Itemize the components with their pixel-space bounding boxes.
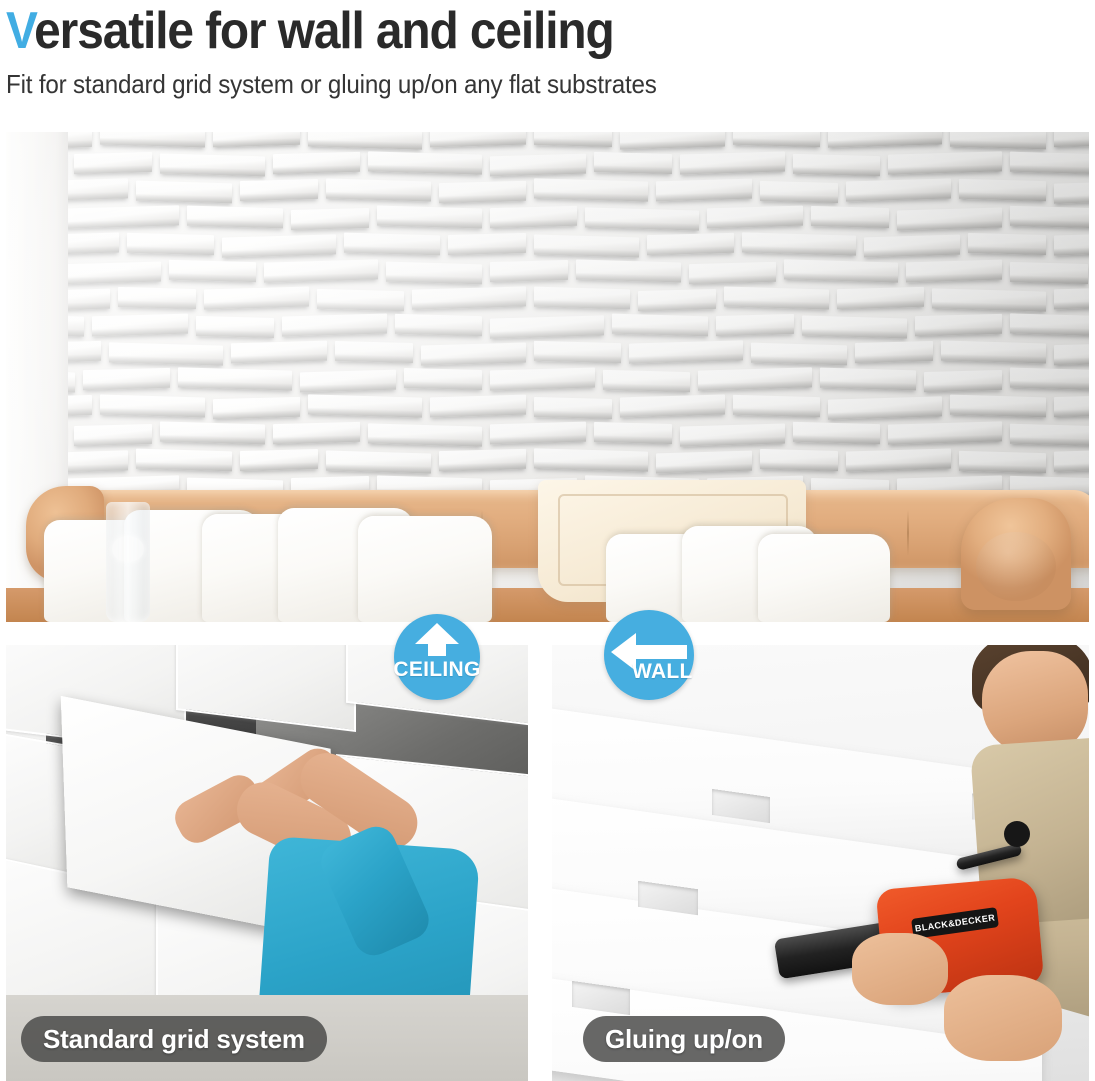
page-title: Versatile for wall and ceiling [6, 0, 1008, 60]
brick-tile [490, 368, 595, 391]
brick-tile [793, 154, 880, 176]
brick-tile [793, 422, 880, 444]
brick-row [68, 288, 1089, 315]
brick-tile [240, 449, 318, 471]
brick-tile [888, 421, 1002, 444]
brick-tile [534, 287, 630, 310]
badge-wall-label: WALL [632, 660, 693, 684]
brick-row [68, 423, 1089, 450]
brick-tile [490, 206, 577, 228]
brick-tile [733, 395, 820, 417]
brick-tile [68, 205, 179, 228]
brick-tile [68, 289, 110, 312]
brick-tile [92, 314, 188, 337]
brick-tile [273, 152, 360, 174]
brick-tile [716, 314, 794, 336]
brick-tile [828, 396, 942, 419]
page-header: Versatile for wall and ceiling Fit for s… [0, 0, 1095, 100]
brick-tile [620, 395, 725, 418]
brick-tile [136, 449, 232, 472]
brick-tile [888, 151, 1002, 174]
brick-tile [612, 314, 708, 337]
brick-tile [802, 316, 907, 339]
brick-tile [629, 340, 743, 363]
brick-tile [264, 259, 378, 282]
brick-tile [811, 206, 889, 228]
brick-tile [915, 314, 1002, 336]
installer-hand-front [852, 933, 948, 1005]
brick-tile [707, 206, 803, 229]
brick-tile [594, 422, 672, 444]
installer-hand-grip [944, 975, 1062, 1061]
brick-tile [291, 208, 369, 230]
brick-tile [932, 288, 1046, 311]
brick-tile [680, 152, 785, 175]
brick-tile [760, 449, 838, 471]
brick-tile [846, 449, 951, 472]
brick-tile [959, 451, 1046, 473]
brick-tile [603, 370, 690, 392]
brick-tile [231, 341, 327, 364]
brick-tile [594, 152, 672, 174]
sofa [6, 472, 1089, 622]
brick-tile [196, 316, 274, 338]
brick-tile [585, 207, 699, 230]
brick-tile [680, 424, 785, 447]
brick-tile [689, 262, 776, 284]
brick-tile [656, 179, 752, 202]
badge-ceiling: CEILING [394, 614, 480, 700]
brick-tile [534, 235, 639, 258]
brick-tile [68, 395, 92, 417]
arrow-up-icon [414, 622, 460, 656]
brick-tile [864, 235, 960, 258]
brick-tile [335, 341, 413, 363]
brick-tile [1010, 262, 1088, 284]
brick-tile [68, 233, 119, 256]
brick-tile [439, 181, 526, 203]
brick-tile [760, 181, 838, 203]
brick-tile [698, 367, 812, 390]
brick-tile [68, 341, 101, 363]
brick-tile [941, 341, 1046, 364]
brick-tile [751, 343, 847, 366]
brick-tile [924, 370, 1002, 392]
brick-tile [439, 449, 526, 471]
brick-tile [906, 260, 1002, 283]
brick-tile [647, 233, 734, 255]
brick-tile [1054, 180, 1089, 203]
brick-tile [109, 342, 223, 365]
brick-tile [300, 370, 396, 393]
caption-gluing: Gluing up/on [583, 1016, 785, 1062]
badge-wall: WALL [604, 610, 694, 700]
brick-tile [784, 259, 898, 282]
brick-tile [968, 233, 1046, 255]
brick-tile [136, 181, 232, 204]
brick-row [68, 234, 1089, 261]
brick-tile [83, 368, 170, 390]
sofa-arm-right [961, 498, 1071, 610]
brick-tile [1054, 287, 1089, 310]
brick-tile [430, 132, 526, 147]
brick-row [68, 342, 1089, 369]
brick-tile [1010, 206, 1089, 228]
brick-tile [317, 289, 404, 311]
brick-tile [412, 286, 526, 309]
brick-tile [100, 395, 205, 418]
brick-tile [430, 395, 526, 418]
brick-tile [656, 451, 752, 474]
brick-tile [68, 313, 84, 336]
brick-tile [950, 132, 1046, 149]
brick-tile [576, 260, 681, 283]
brick-tile [395, 314, 482, 336]
caption-standard-grid: Standard grid system [21, 1016, 327, 1062]
brick-tile [534, 178, 648, 201]
brick-tile [273, 422, 360, 444]
brick-tile [326, 451, 431, 474]
brick-tile [828, 132, 942, 148]
room-scene [6, 132, 1089, 622]
brick-tile [448, 233, 526, 255]
brick-tile [222, 234, 336, 257]
pillow [358, 516, 492, 622]
brick-tile [1054, 233, 1089, 256]
page-subtitle: Fit for standard grid system or gluing u… [6, 68, 1019, 100]
brick-tile [724, 287, 829, 310]
glue-gun-plunger-knob [1004, 821, 1030, 847]
brick-tile [68, 262, 161, 285]
brick-tile [620, 132, 725, 149]
brick-tile [118, 287, 196, 309]
brick-tile [308, 394, 422, 417]
brick-tile [1054, 448, 1089, 471]
brick-tile [377, 206, 482, 229]
brick-tile [326, 179, 431, 202]
brick-tile [1010, 424, 1089, 447]
brick-tile [846, 179, 951, 202]
brick-tile [490, 154, 586, 177]
brick-tile [855, 341, 933, 363]
brick-tile [820, 368, 916, 391]
brick-tile [308, 132, 422, 150]
brick-tile [160, 422, 265, 445]
brick-tile [160, 154, 265, 177]
brick-tile [1054, 343, 1089, 365]
brick-tile [187, 206, 283, 229]
brick-tile [68, 132, 92, 149]
brick-tile [1054, 132, 1089, 147]
glass-vase [106, 502, 150, 622]
brick-tile [1010, 368, 1089, 391]
brick-row [68, 396, 1089, 423]
brick-tile [68, 450, 128, 473]
brick-tile [534, 397, 612, 419]
brick-tile [240, 179, 318, 201]
brick-tile [534, 341, 621, 363]
brick-tile [742, 232, 856, 255]
brick-tile [213, 132, 300, 147]
brick-tile [1010, 152, 1089, 175]
brick-tile [282, 314, 387, 337]
brick-tile [534, 448, 648, 471]
brick-tile [386, 262, 482, 285]
brick-tile [534, 132, 612, 147]
brick-tile [74, 152, 152, 174]
brick-tile [950, 395, 1046, 418]
brick-tile [421, 343, 526, 366]
brick-tile [178, 367, 292, 390]
brick-row [68, 153, 1089, 180]
title-accent-letter: V [6, 2, 34, 60]
brick-row [68, 261, 1089, 288]
brick-tile [490, 260, 568, 282]
brick-row [68, 180, 1089, 207]
pillow [758, 534, 890, 622]
brick-tile [897, 208, 1002, 231]
brick-tile [638, 289, 716, 311]
brick-row [68, 369, 1089, 396]
brick-tile [74, 424, 152, 446]
brick-tile [404, 368, 482, 390]
brick-tile [959, 179, 1046, 201]
brick-tile [490, 315, 604, 338]
brick-tile [837, 287, 924, 309]
brick-tile [344, 233, 440, 256]
hero-photo [6, 132, 1089, 622]
brick-tile [368, 423, 482, 446]
brick-tile [490, 422, 586, 445]
brick-tile [1010, 313, 1089, 336]
brick-row [68, 315, 1089, 342]
brick-tile [368, 151, 482, 174]
badge-ceiling-label: CEILING [393, 658, 480, 682]
brick-tile [68, 178, 128, 201]
brick-tile [733, 132, 820, 147]
brick-tile [68, 370, 75, 393]
brick-tile [213, 397, 300, 419]
brick-row [68, 132, 1089, 153]
brick-tile [127, 233, 214, 255]
brick-tile [1054, 395, 1089, 417]
title-rest: ersatile for wall and ceiling [34, 2, 613, 60]
brick-tile [100, 132, 205, 147]
brick-tile [204, 287, 309, 310]
brick-tile [169, 260, 256, 282]
brick-row [68, 207, 1089, 234]
